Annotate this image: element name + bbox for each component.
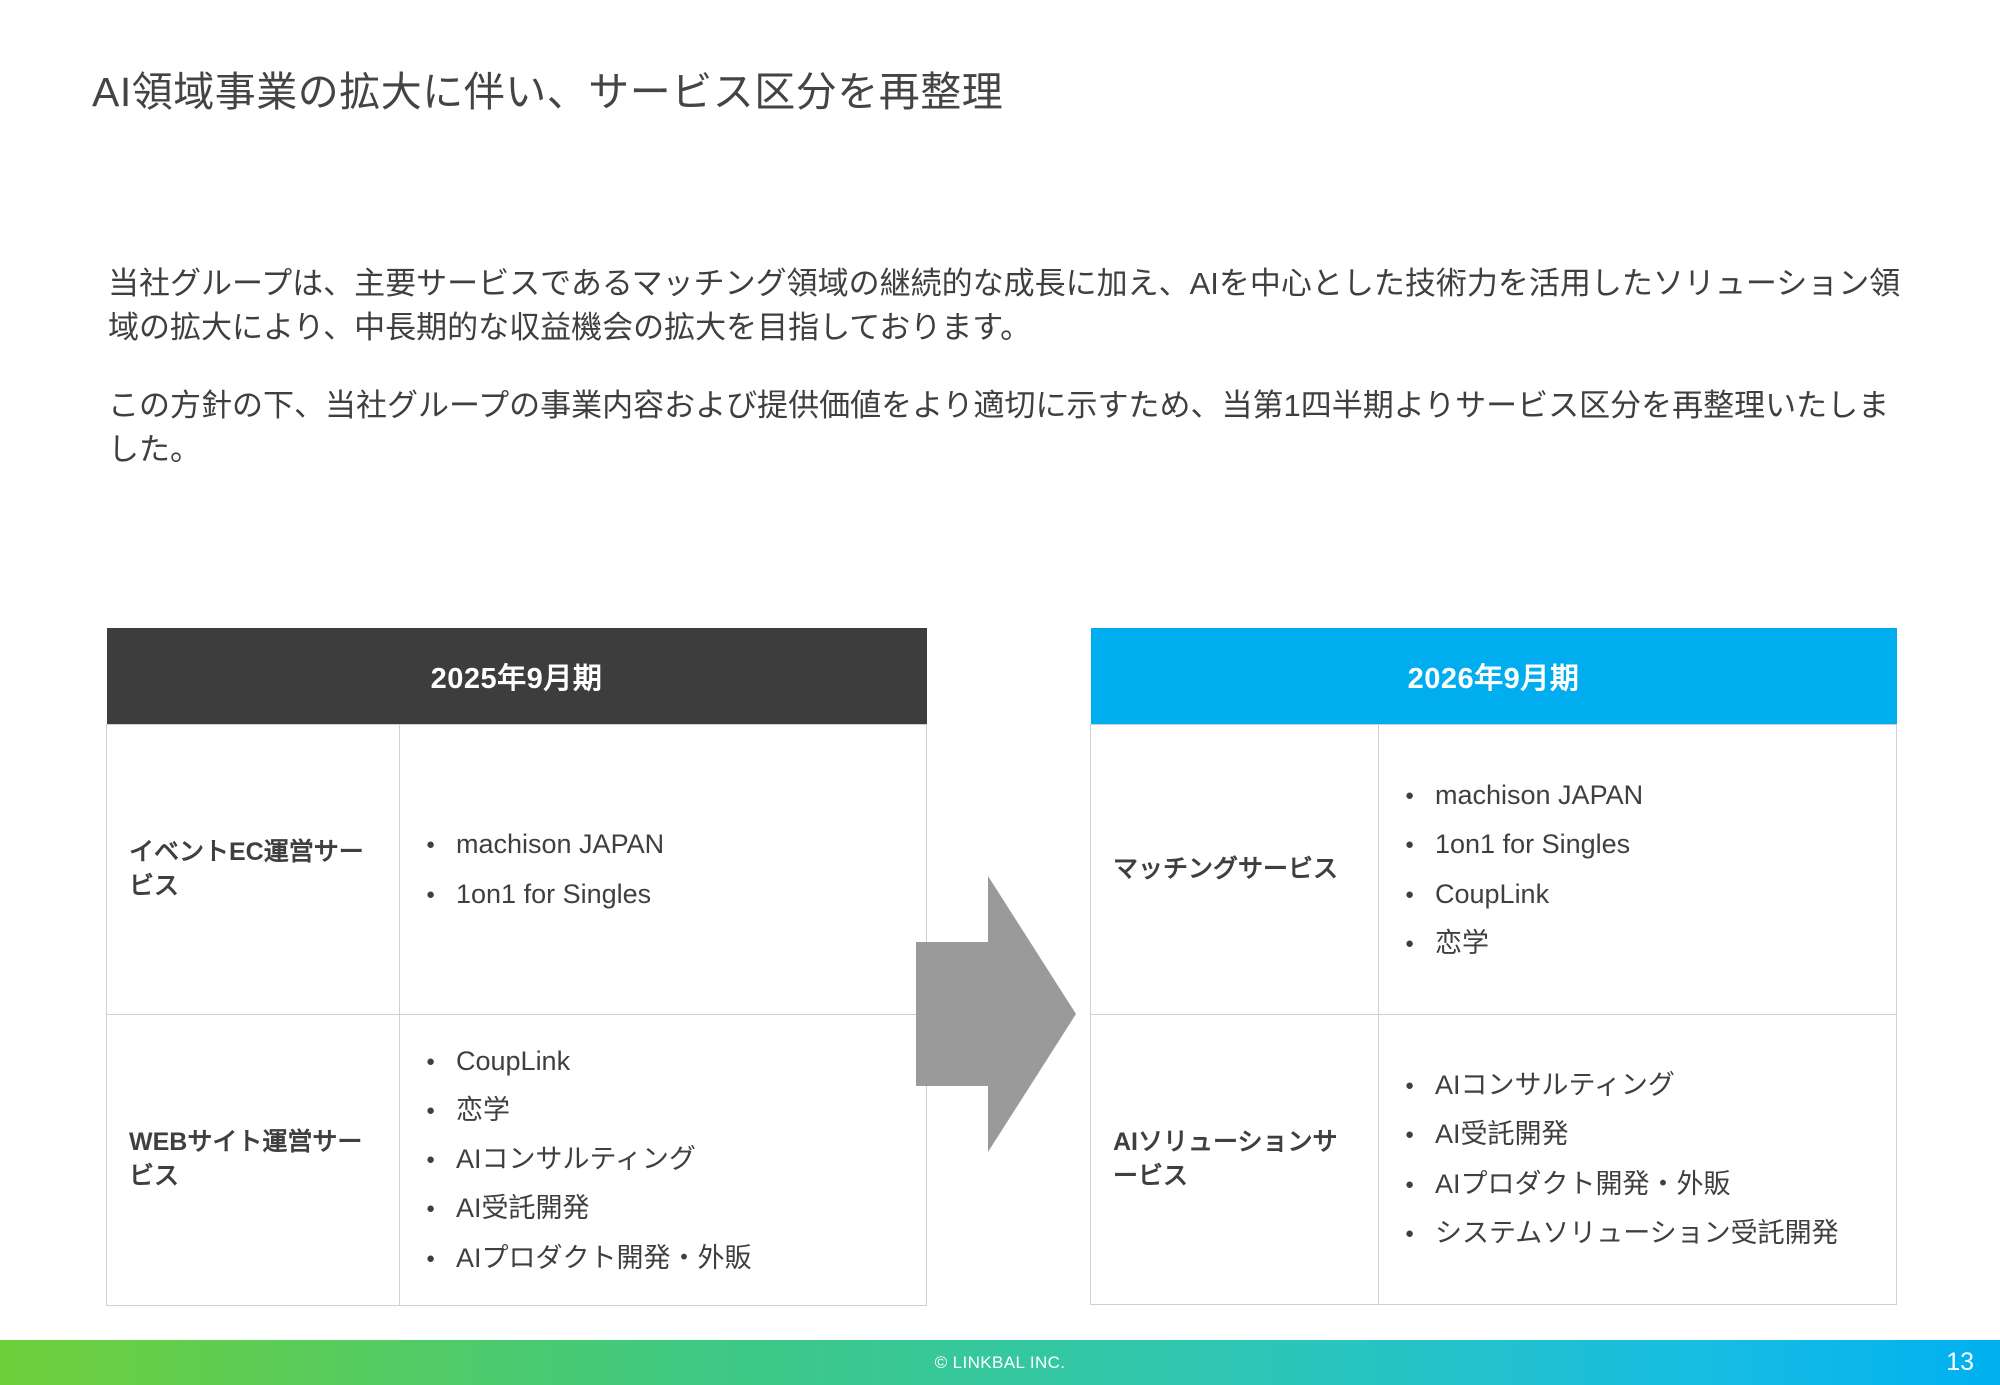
table-row: イベントEC運営サービス machison JAPAN 1on1 for Sin…: [107, 725, 927, 1015]
table-row: マッチングサービス machison JAPAN 1on1 for Single…: [1091, 725, 1897, 1015]
segment-items: CoupLink 恋学 AIコンサルティング AI受託開発 AIプロダクト開発・…: [400, 1015, 927, 1306]
table-row: WEBサイト運営サービス CoupLink 恋学 AIコンサルティング AI受託…: [107, 1015, 927, 1306]
segment-name: マッチングサービス: [1091, 725, 1379, 1015]
list-item: AIプロダクト開発・外販: [1405, 1160, 1870, 1209]
segment-name: AIソリューションサービス: [1091, 1015, 1379, 1305]
page-title: AI領域事業の拡大に伴い、サービス区分を再整理: [92, 58, 1003, 118]
list-item: システムソリューション受託開発: [1405, 1209, 1870, 1258]
segment-items: machison JAPAN 1on1 for Singles: [400, 725, 927, 1015]
segment-name: WEBサイト運営サービス: [107, 1015, 400, 1306]
item-list: machison JAPAN 1on1 for Singles: [426, 820, 900, 918]
arrow-right-icon: [916, 876, 1076, 1152]
copyright-text: © LINKBAL INC.: [0, 1340, 2000, 1385]
page-number: 13: [1946, 1340, 1974, 1385]
list-item: machison JAPAN: [1405, 771, 1870, 820]
body-paragraph-1: 当社グループは、主要サービスであるマッチング領域の継続的な成長に加え、AIを中心…: [108, 262, 1918, 350]
list-item: 1on1 for Singles: [426, 870, 900, 919]
segment-items: machison JAPAN 1on1 for Singles CoupLink…: [1379, 725, 1897, 1015]
list-item: AIプロダクト開発・外販: [426, 1234, 900, 1283]
list-item: AI受託開発: [1405, 1110, 1870, 1159]
table-fy2026: 2026年9月期 マッチングサービス machison JAPAN 1on1 f…: [1090, 628, 1897, 1305]
table-fy2025-header: 2025年9月期: [107, 628, 927, 725]
list-item: 恋学: [1405, 919, 1870, 968]
table-fy2025: 2025年9月期 イベントEC運営サービス machison JAPAN 1on…: [106, 628, 927, 1306]
footer-bar: © LINKBAL INC. 13: [0, 1340, 2000, 1385]
list-item: AI受託開発: [426, 1184, 900, 1233]
segment-name: イベントEC運営サービス: [107, 725, 400, 1015]
body-text-block: 当社グループは、主要サービスであるマッチング領域の継続的な成長に加え、AIを中心…: [108, 262, 1918, 472]
body-paragraph-2: この方針の下、当社グループの事業内容および提供価値をより適切に示すため、当第1四…: [108, 384, 1918, 472]
table-row: AIソリューションサービス AIコンサルティング AI受託開発 AIプロダクト開…: [1091, 1015, 1897, 1305]
list-item: machison JAPAN: [426, 820, 900, 869]
item-list: AIコンサルティング AI受託開発 AIプロダクト開発・外販 システムソリューシ…: [1405, 1061, 1870, 1258]
list-item: 恋学: [426, 1086, 900, 1135]
list-item: CoupLink: [426, 1037, 900, 1086]
list-item: CoupLink: [1405, 870, 1870, 919]
item-list: machison JAPAN 1on1 for Singles CoupLink…: [1405, 771, 1870, 968]
item-list: CoupLink 恋学 AIコンサルティング AI受託開発 AIプロダクト開発・…: [426, 1037, 900, 1283]
list-item: AIコンサルティング: [426, 1135, 900, 1184]
list-item: AIコンサルティング: [1405, 1061, 1870, 1110]
segment-items: AIコンサルティング AI受託開発 AIプロダクト開発・外販 システムソリューシ…: [1379, 1015, 1897, 1305]
list-item: 1on1 for Singles: [1405, 820, 1870, 869]
table-fy2026-header: 2026年9月期: [1091, 628, 1897, 725]
